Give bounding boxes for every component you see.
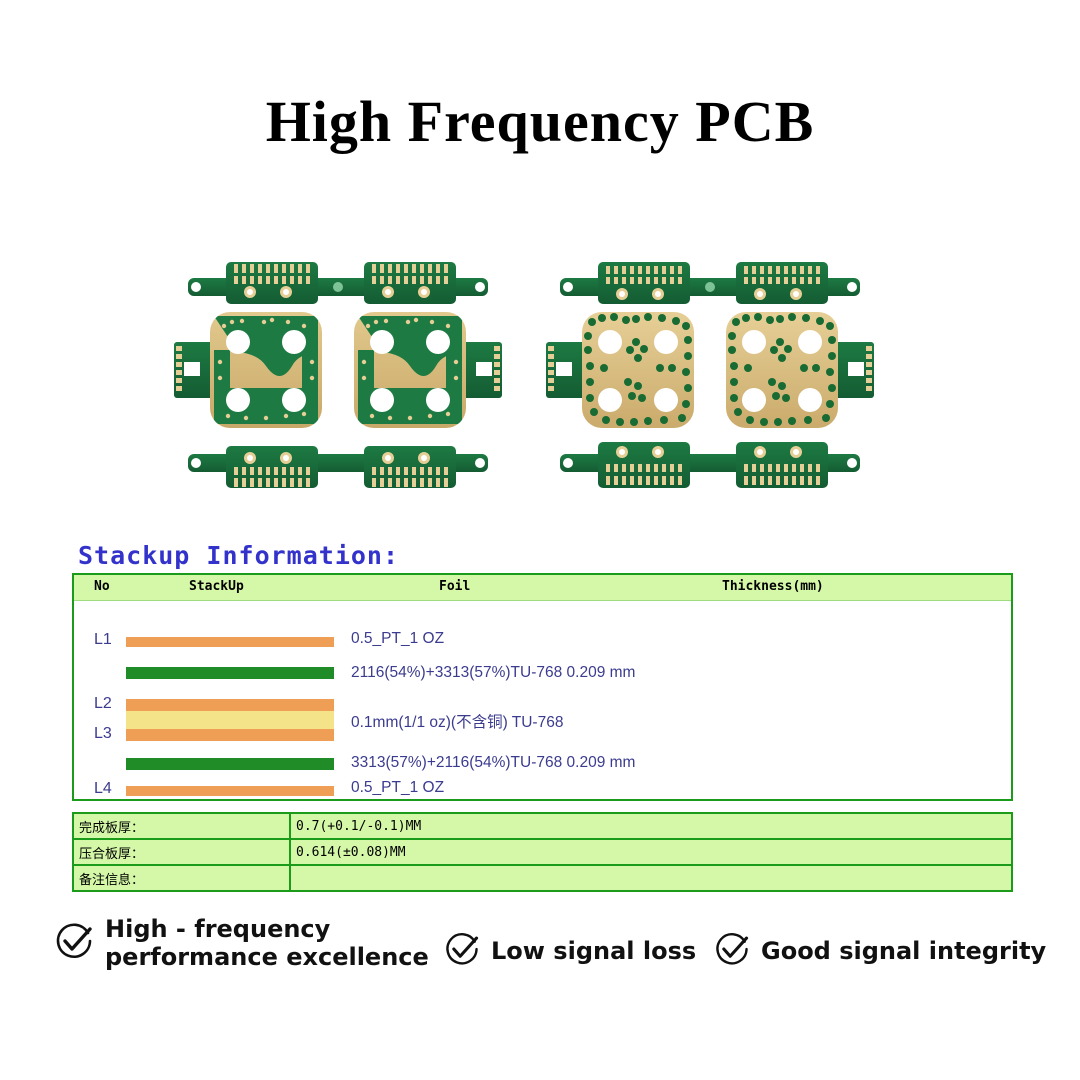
board-thickness-table: 完成板厚： 0.7(+0.1/-0.1)MM 压合板厚： 0.614(±0.08… bbox=[72, 812, 1013, 892]
feature-label: Good signal integrity bbox=[761, 937, 1046, 965]
feature-list: High - frequency performance excellence … bbox=[0, 915, 1080, 985]
feature-item-high-frequency: High - frequency performance excellence bbox=[52, 915, 429, 972]
table-row: 备注信息： bbox=[73, 865, 1012, 891]
layer-bar-prepreg-bottom bbox=[126, 758, 334, 770]
page-title: High Frequency PCB bbox=[0, 88, 1080, 155]
layer-label-l3: L3 bbox=[94, 725, 112, 743]
layer-label-l1: L1 bbox=[94, 631, 112, 649]
stackup-table-body: L1 0.5_PT_1 OZ 2116(54%)+3313(57%)TU-768… bbox=[74, 601, 1011, 800]
layer-label-l4: L4 bbox=[94, 780, 112, 798]
layer-desc-prepreg-bottom: 3313(57%)+2116(54%)TU-768 0.209 mm bbox=[351, 754, 635, 772]
layer-desc-l4: 0.5_PT_1 OZ bbox=[351, 779, 444, 797]
stackup-table-header: No StackUp Foil Thickness(mm) bbox=[74, 575, 1011, 601]
layer-bar-l4-copper bbox=[126, 786, 334, 796]
stackup-heading: Stackup Information: bbox=[78, 541, 399, 570]
feature-label: High - frequency performance excellence bbox=[105, 915, 429, 972]
info-label-finished-thickness: 完成板厚： bbox=[73, 813, 290, 839]
column-header-no: No bbox=[94, 579, 110, 594]
check-circle-icon bbox=[712, 929, 752, 974]
info-value-finished-thickness: 0.7(+0.1/-0.1)MM bbox=[290, 813, 1012, 839]
feature-item-good-signal-integrity: Good signal integrity bbox=[712, 929, 1046, 974]
info-label-laminated-thickness: 压合板厚： bbox=[73, 839, 290, 865]
layer-label-l2: L2 bbox=[94, 695, 112, 713]
check-circle-icon bbox=[442, 929, 482, 974]
layer-desc-l1: 0.5_PT_1 OZ bbox=[351, 630, 444, 648]
layer-bar-l3-copper bbox=[126, 729, 334, 741]
column-header-foil: Foil bbox=[439, 579, 470, 594]
table-row: 压合板厚： 0.614(±0.08)MM bbox=[73, 839, 1012, 865]
feature-label: Low signal loss bbox=[491, 937, 696, 965]
column-header-stackup: StackUp bbox=[189, 579, 244, 594]
info-label-remarks: 备注信息： bbox=[73, 865, 290, 891]
pcb-photo-row bbox=[0, 250, 1080, 505]
column-header-thickness: Thickness(mm) bbox=[722, 579, 824, 594]
layer-bar-l2-copper bbox=[126, 699, 334, 711]
info-value-remarks bbox=[290, 865, 1012, 891]
check-circle-icon bbox=[52, 919, 96, 968]
feature-item-low-signal-loss: Low signal loss bbox=[442, 929, 696, 974]
layer-bar-core bbox=[126, 711, 334, 729]
layer-bar-prepreg-top bbox=[126, 667, 334, 679]
pcb-panel-bottom-side bbox=[540, 250, 880, 500]
layer-desc-prepreg-top: 2116(54%)+3313(57%)TU-768 0.209 mm bbox=[351, 664, 635, 682]
stackup-table: No StackUp Foil Thickness(mm) L1 0.5_PT_… bbox=[72, 573, 1013, 801]
table-row: 完成板厚： 0.7(+0.1/-0.1)MM bbox=[73, 813, 1012, 839]
pcb-panel-top-side bbox=[168, 250, 508, 500]
poster-root: High Frequency PCB bbox=[0, 0, 1080, 1080]
info-value-laminated-thickness: 0.614(±0.08)MM bbox=[290, 839, 1012, 865]
layer-desc-core: 0.1mm(1/1 oz)(不含铜) TU-768 bbox=[351, 710, 563, 732]
layer-bar-l1-copper bbox=[126, 637, 334, 647]
